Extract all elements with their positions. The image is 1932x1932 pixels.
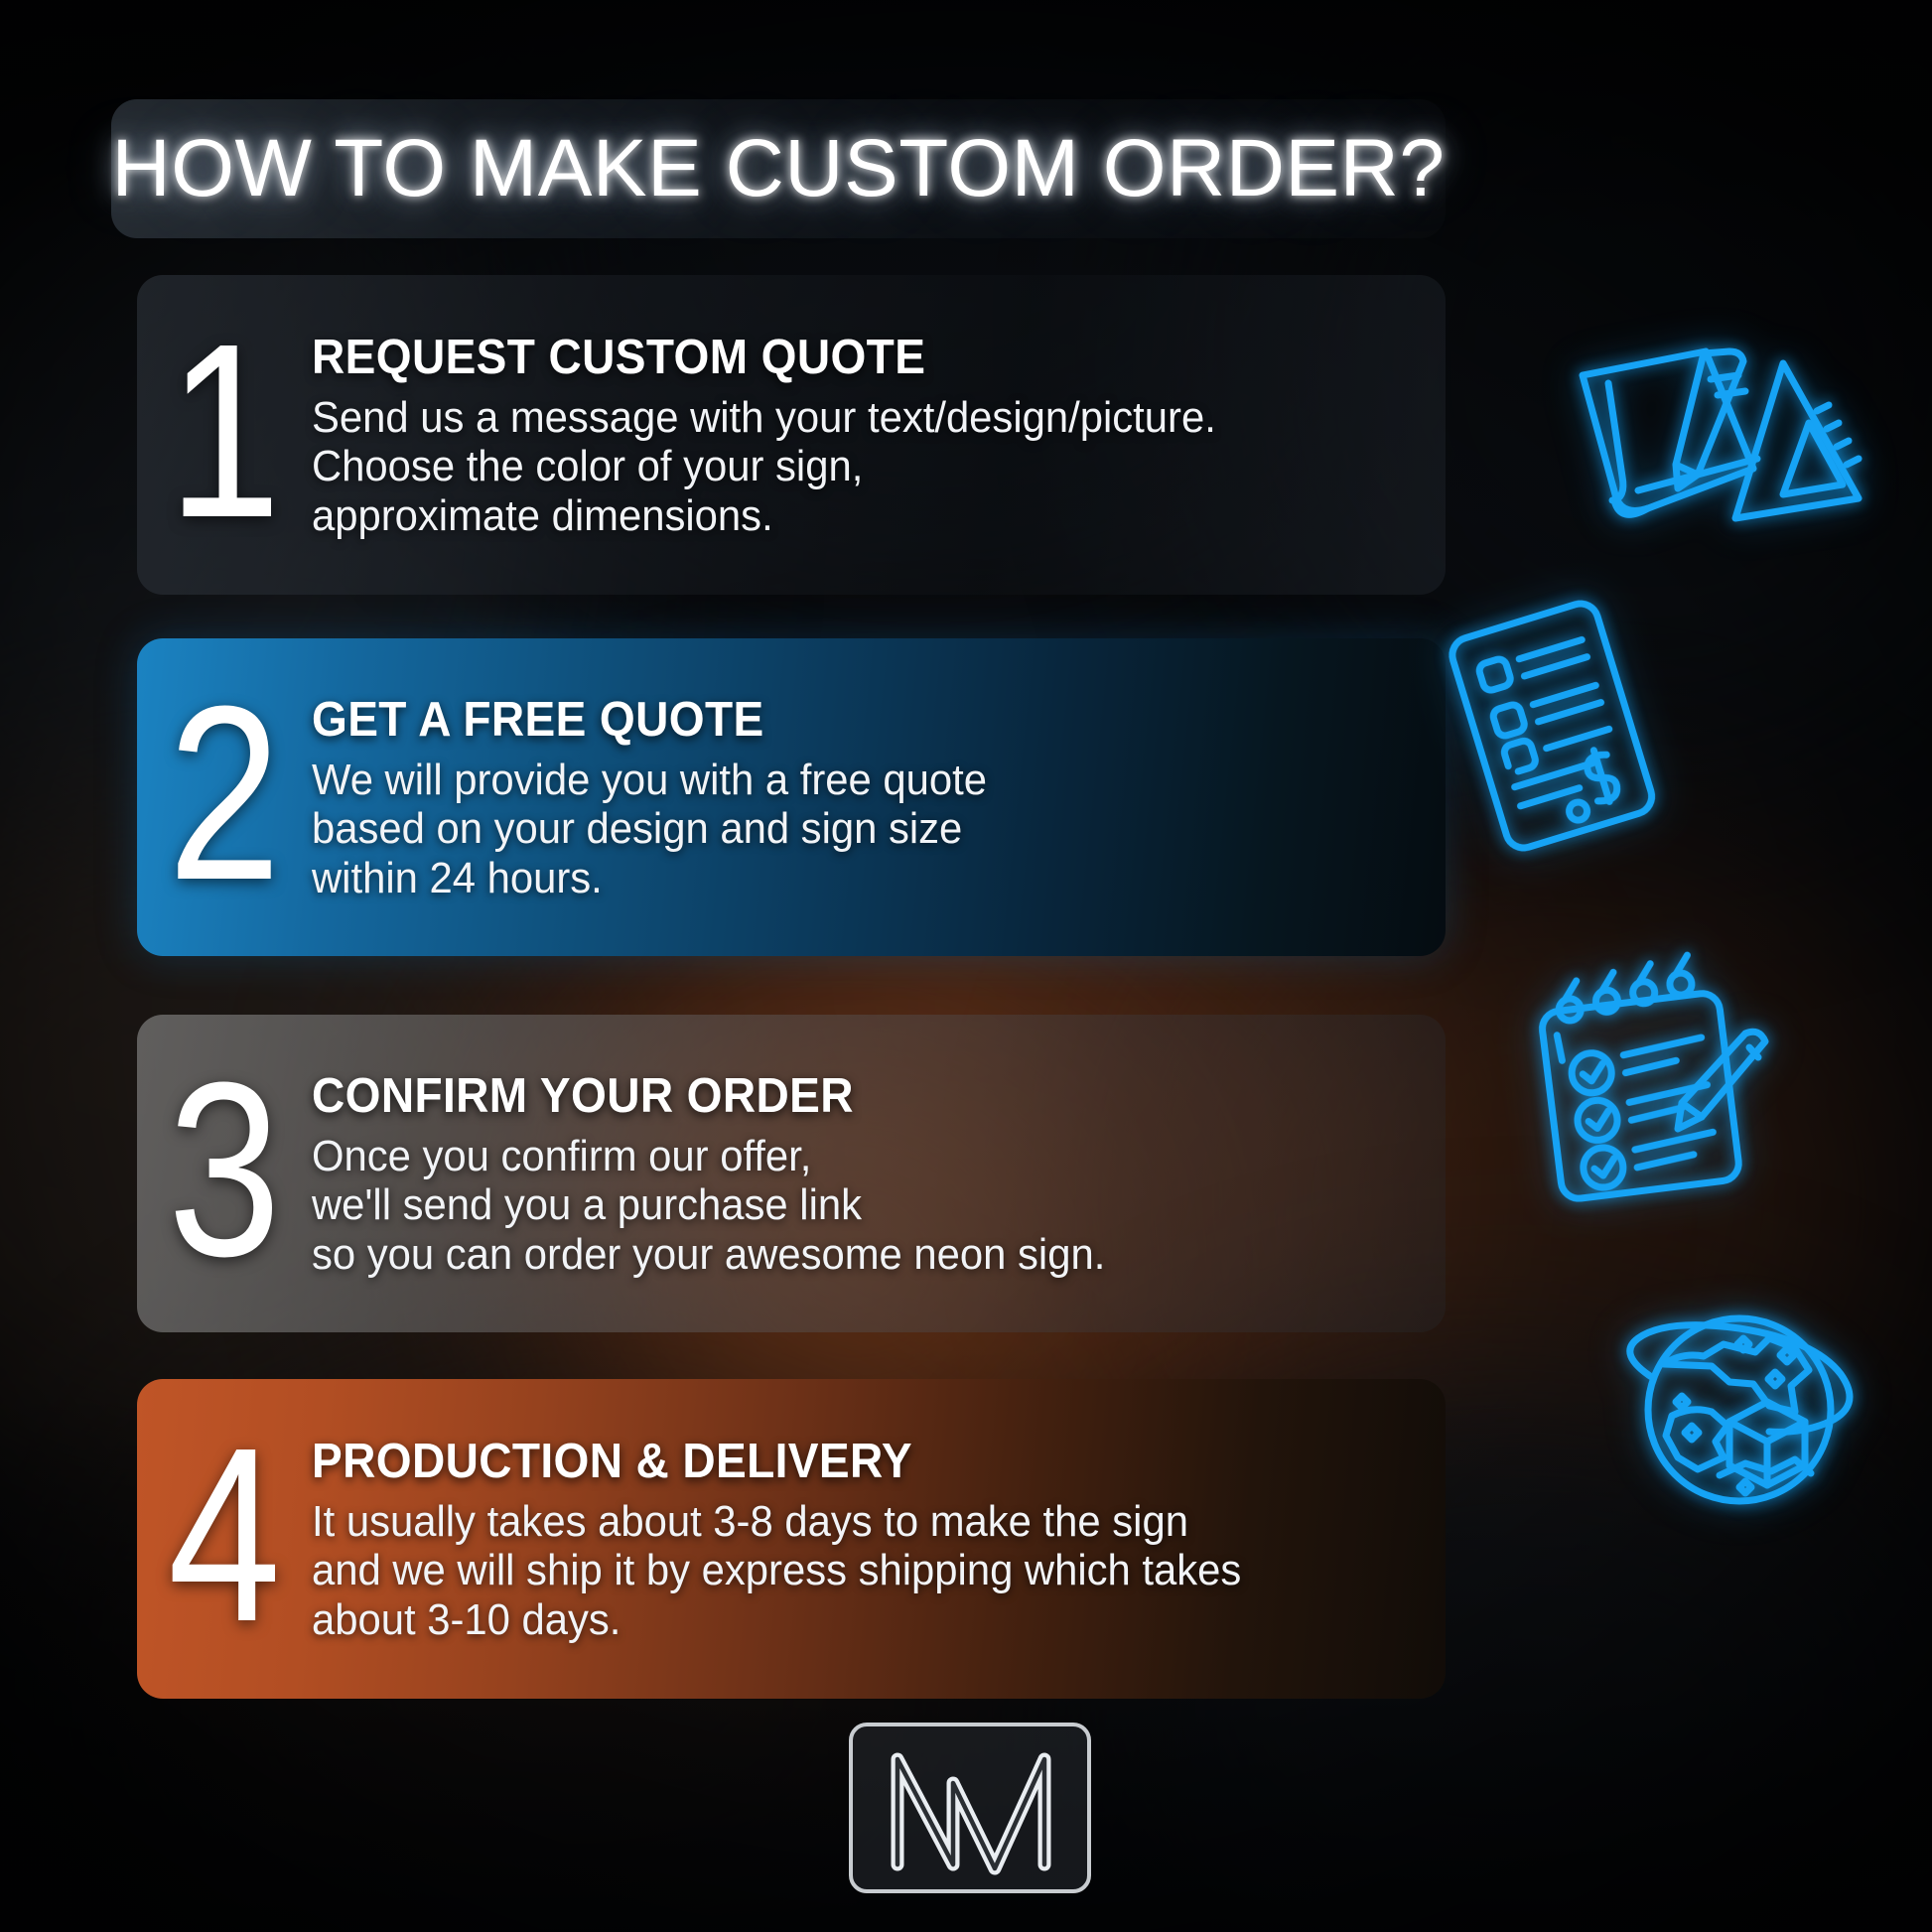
checklist-notepad-pencil-icon xyxy=(1517,968,1795,1216)
step-body-1: REQUEST CUSTOM QUOTE Send us a message w… xyxy=(312,330,1446,540)
infographic-page: HOW TO MAKE CUSTOM ORDER? 1 REQUEST CUST… xyxy=(0,0,1932,1932)
step-body-2: GET A FREE QUOTE We will provide you wit… xyxy=(312,692,1446,902)
step-title-3: CONFIRM YOUR ORDER xyxy=(312,1068,1340,1124)
step-title-2: GET A FREE QUOTE xyxy=(312,692,1340,748)
step-description-1: Send us a message with your text/design/… xyxy=(312,393,1351,540)
step-body-4: PRODUCTION & DELIVERY It usually takes a… xyxy=(312,1434,1446,1644)
step-number-2: 2 xyxy=(153,684,296,910)
step-description-3: Once you confirm our offer, we'll send y… xyxy=(312,1132,1351,1279)
step-number-3: 3 xyxy=(153,1060,296,1287)
step-description-2: We will provide you with a free quote ba… xyxy=(312,756,1351,902)
step-description-4: It usually takes about 3-8 days to make … xyxy=(312,1497,1351,1644)
step-card-3: 3 CONFIRM YOUR ORDER Once you confirm ou… xyxy=(137,1015,1446,1332)
ln-neon-monogram-logo xyxy=(846,1720,1094,1896)
blueprint-pencil-ruler-icon xyxy=(1579,349,1906,548)
step-title-4: PRODUCTION & DELIVERY xyxy=(312,1434,1340,1489)
step-number-4: 4 xyxy=(153,1426,296,1652)
globe-shipping-box-icon xyxy=(1620,1309,1868,1522)
step-number-1: 1 xyxy=(153,322,296,548)
step-card-2: 2 GET A FREE QUOTE We will provide you w… xyxy=(137,638,1446,956)
page-title: HOW TO MAKE CUSTOM ORDER? xyxy=(112,122,1446,215)
step-title-1: REQUEST CUSTOM QUOTE xyxy=(312,330,1340,385)
invoice-quote-document-icon xyxy=(1422,594,1690,862)
step-card-1: 1 REQUEST CUSTOM QUOTE Send us a message… xyxy=(137,275,1446,595)
step-card-4: 4 PRODUCTION & DELIVERY It usually takes… xyxy=(137,1379,1446,1699)
step-body-3: CONFIRM YOUR ORDER Once you confirm our … xyxy=(312,1068,1446,1279)
title-banner: HOW TO MAKE CUSTOM ORDER? xyxy=(111,99,1446,238)
